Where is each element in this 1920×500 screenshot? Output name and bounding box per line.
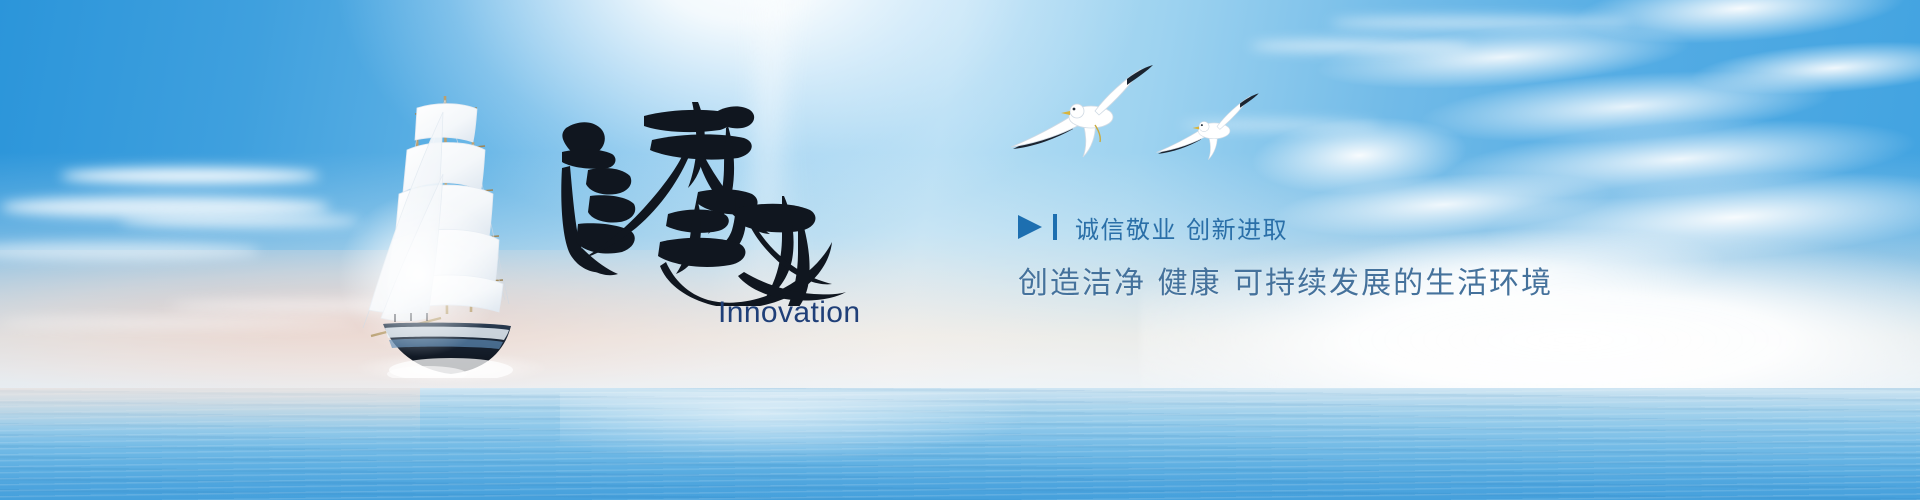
slogan-block: 诚信敬业 创新进取 创造洁净 健康 可持续发展的生活环境 (1018, 208, 1578, 302)
sea-warm-reflection (0, 388, 420, 448)
seagull-icon (1157, 93, 1259, 159)
seagull-icon (1011, 65, 1153, 157)
hero-banner: Innovation 诚信敬业 创新进取 创造洁净 健康 可持续发展的生活环境 (0, 0, 1920, 500)
play-triangle-icon (1018, 215, 1042, 239)
calligraphy-title (548, 96, 848, 306)
seagull-group (995, 45, 1265, 175)
slogan-line-1: 诚信敬业 创新进取 (1075, 210, 1288, 245)
vertical-divider (1053, 214, 1057, 240)
slogan-line-2: 创造洁净 健康 可持续发展的生活环境 (1018, 258, 1578, 302)
sea-sun-glare (560, 392, 1320, 500)
calligraphy-strokes (548, 96, 848, 306)
innovation-subtitle: Innovation (718, 296, 860, 330)
slogan-row-primary: 诚信敬业 创新进取 (1018, 208, 1578, 246)
tall-ship-icon (355, 78, 535, 378)
